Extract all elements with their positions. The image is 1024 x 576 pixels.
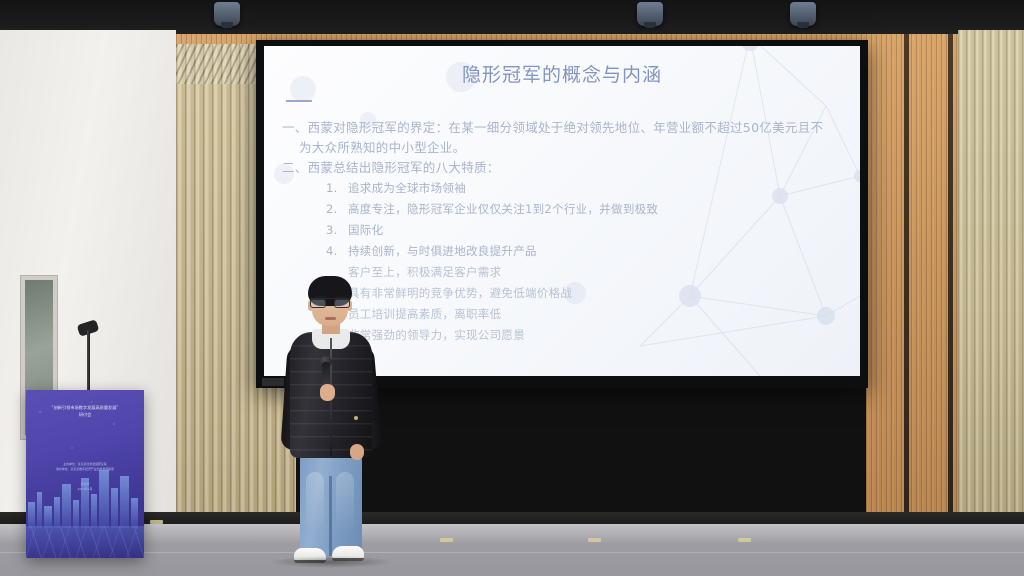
jeans-highlight: [336, 472, 354, 532]
glasses-icon: [310, 298, 350, 308]
slide-section-1: 一、西蒙对隐形冠军的界定：在某一细分领域处于绝对领先地位、年营业额不超过50亿美…: [282, 118, 844, 138]
presenter-right-hand: [350, 444, 364, 460]
podium-title: “创新引领市场数字发展高质量发展” 研讨会: [32, 404, 138, 418]
floor-tape-mark: [738, 538, 751, 542]
slide-section-1-continuation: 为大众所熟知的中小型企业。: [282, 138, 844, 158]
trait-text: 追求成为全球市场领袖: [348, 178, 466, 199]
presenter: [272, 276, 390, 566]
trait-text: 高度专注，隐形冠军企业仅仅关注1到2个行业，并做到极致: [348, 199, 658, 220]
podium-title-sub: 研讨会: [79, 412, 92, 417]
podium-backdrop-panel: “创新引领市场数字发展高质量发展” 研讨会 主办单位：某某某创新发展研究院 承办…: [26, 390, 144, 558]
presenter-floor-shadow: [268, 556, 394, 568]
jacket-pin-badge: [354, 416, 358, 420]
floor-tape-mark: [588, 538, 601, 542]
trait-number: 1.: [326, 178, 348, 199]
slide-section-1-text: 西蒙对隐形冠军的界定：在某一细分领域处于绝对领先地位、年营业额不超过50亿美元且…: [308, 120, 824, 135]
trait-number: 3.: [326, 220, 348, 241]
trait-number: 2.: [326, 199, 348, 220]
slide-trait-item: 1. 追求成为全球市场领袖: [282, 178, 844, 199]
trait-number: 4.: [326, 241, 348, 262]
podium-water-graphic: [26, 526, 144, 558]
ceiling-spotlight: [790, 2, 816, 26]
glasses-lens: [310, 299, 326, 308]
slide-title-rule: [286, 100, 312, 102]
floor-tape-mark: [440, 538, 453, 542]
wood-wall-seam: [948, 34, 953, 514]
slide-trait-item: 2. 高度专注，隐形冠军企业仅仅关注1到2个行业，并做到极致: [282, 199, 844, 220]
ceiling-spotlight: [637, 2, 663, 26]
floor-reflection: [0, 524, 1024, 544]
podium-title-main: “创新引领市场数字发展高质量发展”: [51, 405, 118, 410]
floor-tape-mark: [150, 520, 163, 524]
slide-section-2-marker: 二、: [282, 160, 308, 175]
wood-wall-seam: [904, 34, 909, 514]
trait-text: 国际化: [348, 220, 383, 241]
presenter-hand-holding-mic: [320, 384, 335, 401]
slide-section-1-marker: 一、: [282, 120, 308, 135]
floor-seam: [0, 552, 1024, 553]
slide-trait-item: 3. 国际化: [282, 220, 844, 241]
slide-trait-item: 4. 持续创新，与时俱进地改良提升产品: [282, 241, 844, 262]
podium-skyline-graphic: [26, 462, 144, 528]
slide-section-2: 二、西蒙总结出隐形冠军的八大特质：: [282, 158, 844, 178]
presenter-mouth: [325, 317, 336, 320]
glasses-lens: [334, 299, 350, 308]
jeans-highlight: [306, 472, 324, 532]
slide-section-2-text: 西蒙总结出隐形冠军的八大特质：: [308, 160, 500, 175]
conference-room-scene: 隐形冠军的概念与内涵 一、西蒙对隐形冠军的界定：在某一细分领域处于绝对领先地位、…: [0, 0, 1024, 576]
jeans-inseam: [329, 476, 332, 556]
slide-title: 隐形冠军的概念与内涵: [264, 60, 860, 87]
ceiling-spotlight: [214, 2, 240, 26]
curtain-right: [958, 30, 1024, 530]
trait-text: 持续创新，与时俱进地改良提升产品: [348, 241, 537, 262]
